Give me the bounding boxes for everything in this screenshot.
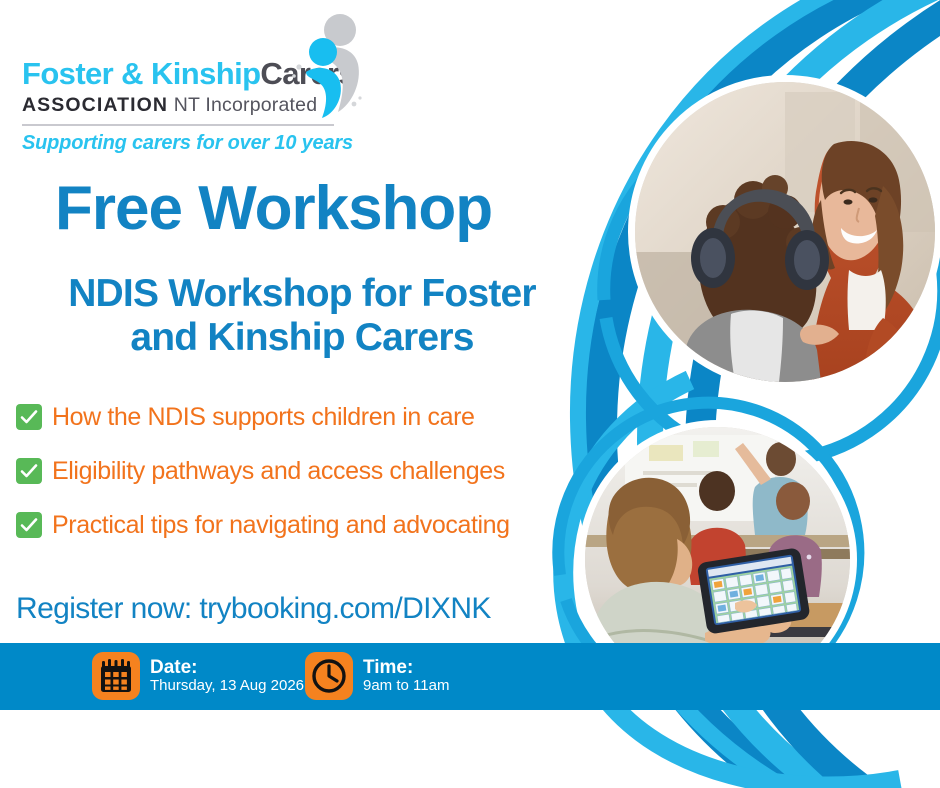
registration-link[interactable]: Register now: trybooking.com/DIXNK xyxy=(16,592,491,626)
green-check-icon xyxy=(16,404,42,430)
event-date-text: Date: Thursday, 13 Aug 2026 xyxy=(150,657,304,695)
logo-association-bold: ASSOCIATION xyxy=(22,94,168,116)
clock-icon xyxy=(305,652,353,700)
page-title: NDIS Workshop for Foster and Kinship Car… xyxy=(22,272,582,359)
event-time-label: Time: xyxy=(363,657,449,678)
list-item: Eligibility pathways and access challeng… xyxy=(16,454,556,488)
page-eyebrow-heading: Free Workshop xyxy=(55,178,492,240)
benefits-list: How the NDIS supports children in care E… xyxy=(16,400,556,562)
logo-wordmark-part1: Foster & Kinship xyxy=(22,56,260,91)
list-item: How the NDIS supports children in care xyxy=(16,400,556,434)
event-date-value: Thursday, 13 Aug 2026 xyxy=(150,678,304,695)
green-check-icon xyxy=(16,458,42,484)
event-time-value: 9am to 11am xyxy=(363,678,449,695)
logo-association-line: ASSOCIATION NT Incorporated xyxy=(22,96,317,116)
event-time-block: Time: 9am to 11am xyxy=(305,652,449,700)
green-check-icon xyxy=(16,512,42,538)
logo-divider xyxy=(22,124,334,126)
event-time-text: Time: 9am to 11am xyxy=(363,657,449,695)
event-details-bar: Date: Thursday, 13 Aug 2026 Time: 9am to… xyxy=(0,643,940,710)
two-people-figures-icon xyxy=(288,12,366,118)
list-item-label: Eligibility pathways and access challeng… xyxy=(52,459,505,484)
organisation-logo: Foster & KinshipCarers ASSOCIATION NT In… xyxy=(18,12,358,74)
logo-tagline: Supporting carers for over 10 years xyxy=(22,132,353,155)
event-date-label: Date: xyxy=(150,657,304,678)
list-item: Practical tips for navigating and advoca… xyxy=(16,508,556,542)
list-item-label: How the NDIS supports children in care xyxy=(52,405,475,430)
photo-carer-and-child-with-headphones xyxy=(628,75,940,389)
list-item-label: Practical tips for navigating and advoca… xyxy=(52,513,510,538)
calendar-icon xyxy=(92,652,140,700)
page-title-line2: and Kinship Carers xyxy=(22,316,582,360)
flyer-canvas: Foster & KinshipCarers ASSOCIATION NT In… xyxy=(0,0,940,788)
event-date-block: Date: Thursday, 13 Aug 2026 xyxy=(92,652,304,700)
page-title-line1: NDIS Workshop for Foster xyxy=(22,272,582,316)
